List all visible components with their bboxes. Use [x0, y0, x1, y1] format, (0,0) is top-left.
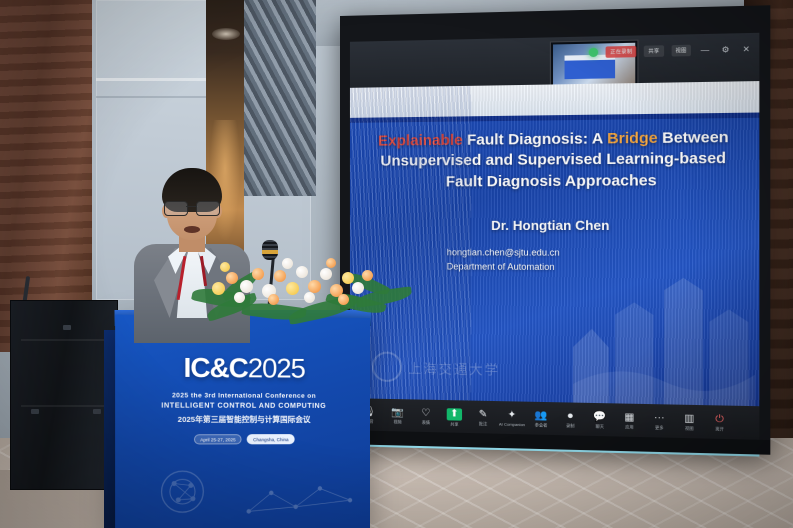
toolbar-more-icon[interactable]: ⋯更多 [645, 413, 674, 430]
flower-bloom [320, 268, 332, 280]
flower-bloom [226, 272, 238, 284]
recording-indicator-icon [589, 48, 598, 57]
toolbar-label: 共享 [450, 421, 458, 426]
conference-logo: IC&C2025 [115, 354, 370, 383]
heart-icon: ♡ [421, 409, 430, 419]
watermark-text: 上海交通大学 [408, 358, 500, 379]
flower-bloom [286, 282, 299, 295]
toolbar-label: 录制 [566, 423, 574, 428]
flower-bloom [274, 270, 286, 282]
podium: IC&C2025 2025 the 3rd International Conf… [115, 314, 370, 528]
toolbar-apps-icon[interactable]: ▦应用 [615, 413, 644, 430]
brain-graphic [151, 465, 240, 525]
badge-location: Changsha, China [247, 434, 295, 444]
logo-year: 2025 [248, 353, 305, 384]
slide-title-keyword: Explainable [378, 132, 462, 150]
apps-icon: ▦ [624, 413, 634, 424]
toolbar-layout-icon[interactable]: ▥视图 [675, 414, 704, 431]
toolbar-ai-assistant-icon[interactable]: ✦AI Companion [498, 410, 526, 427]
toolbar-participants-icon[interactable]: 👥参会者 [527, 411, 555, 428]
flower-bloom [220, 262, 230, 272]
minimize-button[interactable]: — [699, 45, 712, 55]
network-graphic [245, 476, 356, 519]
leave-icon: ⏻ [715, 415, 724, 426]
floral-arrangement [196, 246, 408, 326]
flower-bloom [304, 292, 315, 303]
annotate-icon: ✎ [479, 410, 488, 420]
banner-subtitle-cn: 2025年第三届智能控制与计算国际会议 [115, 414, 370, 425]
flower-bloom [338, 294, 349, 305]
toolbar-label: AI Companion [499, 421, 525, 427]
banner-subtitle-1: 2025 the 3rd International Conference on [115, 392, 370, 400]
camera-icon: 📷 [391, 408, 404, 418]
ai-assistant-icon: ✦ [508, 410, 517, 420]
share-screen-icon: ⬆ [447, 408, 462, 420]
slide-title-part-a: Fault Diagnosis: A [463, 130, 607, 149]
banner-subtitle-2: INTELLIGENT CONTROL AND COMPUTING [115, 402, 370, 410]
toolbar-label: 离开 [715, 426, 724, 431]
podium-banner: IC&C2025 2025 the 3rd International Conf… [115, 354, 370, 445]
seal-icon [372, 351, 402, 382]
chat-icon: 💬 [593, 412, 606, 423]
toolbar-label: 批注 [479, 421, 487, 426]
toolbar-label: 聊天 [596, 424, 604, 429]
acoustic-curtain [244, 0, 316, 196]
record-icon: ⏺ [568, 412, 573, 422]
slide-title-keyword-2: Bridge [607, 129, 658, 147]
flower-bloom [352, 282, 364, 294]
shared-slide: Explainable Fault Diagnosis: A Bridge Be… [350, 81, 759, 406]
speaker-email: hongtian.chen@sjtu.edu.cn [447, 246, 688, 261]
flower-bloom [240, 280, 253, 293]
slide-speaker-name: Dr. Hongtian Chen [364, 217, 744, 233]
layout-icon: ▥ [684, 414, 694, 425]
view-chip[interactable]: 视图 [671, 45, 691, 57]
university-watermark: 上海交通大学 [372, 348, 525, 387]
mouth [184, 226, 200, 233]
toolbar-label: 视图 [685, 426, 694, 431]
share-chip[interactable]: 共享 [644, 45, 664, 57]
badge-date: April 25-27, 2025 [194, 434, 242, 444]
led-screen: Conference Service 正在录制 共享 视图 — ⚙ ✕ [340, 5, 770, 455]
slide-title-part-b: Between [658, 129, 729, 147]
toolbar-label: 更多 [655, 425, 664, 430]
glasses-icon [164, 201, 220, 214]
logo-main: IC&C [183, 352, 247, 383]
flower-bloom [212, 282, 225, 295]
meeting-window-chrome: Conference Service 正在录制 共享 视图 — ⚙ ✕ [350, 33, 759, 88]
gear-icon[interactable]: ⚙ [719, 45, 732, 55]
participants-icon: 👥 [535, 411, 548, 422]
conference-photo-scene: Conference Service 正在录制 共享 视图 — ⚙ ✕ [0, 0, 793, 528]
more-icon: ⋯ [654, 413, 665, 424]
flower-bloom [234, 292, 245, 303]
toolbar-leave-icon[interactable]: ⏻离开 [705, 415, 734, 432]
slide-title-line2: Unsupervised and Supervised Learning-bas… [380, 150, 726, 170]
flower-bloom [268, 294, 279, 305]
slide-title-line3: Fault Diagnosis Approaches [446, 172, 657, 191]
toolbar-heart-icon[interactable]: ♡表情 [412, 408, 439, 425]
flower-bloom [296, 266, 308, 278]
flower-bloom [362, 270, 373, 281]
toolbar-label: 应用 [625, 424, 634, 429]
flower-bloom [342, 272, 354, 284]
flower-bloom [282, 258, 293, 269]
toolbar-record-icon[interactable]: ⏺录制 [556, 411, 584, 428]
slide-speaker-meta: hongtian.chen@sjtu.edu.cn Department of … [447, 246, 688, 275]
ceiling-light [212, 28, 240, 40]
recording-chip: 正在录制 [606, 46, 637, 58]
equipment-case [10, 300, 118, 490]
toolbar-label: 参会者 [535, 422, 548, 427]
speaker-department: Department of Automation [447, 260, 688, 275]
banner-badges: April 25-27, 2025 Changsha, China [115, 434, 370, 445]
flower-bloom [326, 258, 336, 268]
toolbar-share-screen-icon[interactable]: ⬆共享 [441, 408, 469, 427]
toolbar-label: 视频 [394, 419, 402, 424]
toolbar-camera-icon[interactable]: 📷视频 [384, 408, 411, 425]
screen-content: Conference Service 正在录制 共享 视图 — ⚙ ✕ [350, 33, 759, 457]
toolbar-annotate-icon[interactable]: ✎批注 [469, 410, 497, 427]
flower-bloom [252, 268, 264, 280]
close-icon[interactable]: ✕ [740, 44, 753, 54]
toolbar-chat-icon[interactable]: 💬聊天 [586, 412, 615, 429]
toolbar-label: 表情 [422, 420, 430, 425]
slide-title: Explainable Fault Diagnosis: A Bridge Be… [364, 127, 744, 193]
